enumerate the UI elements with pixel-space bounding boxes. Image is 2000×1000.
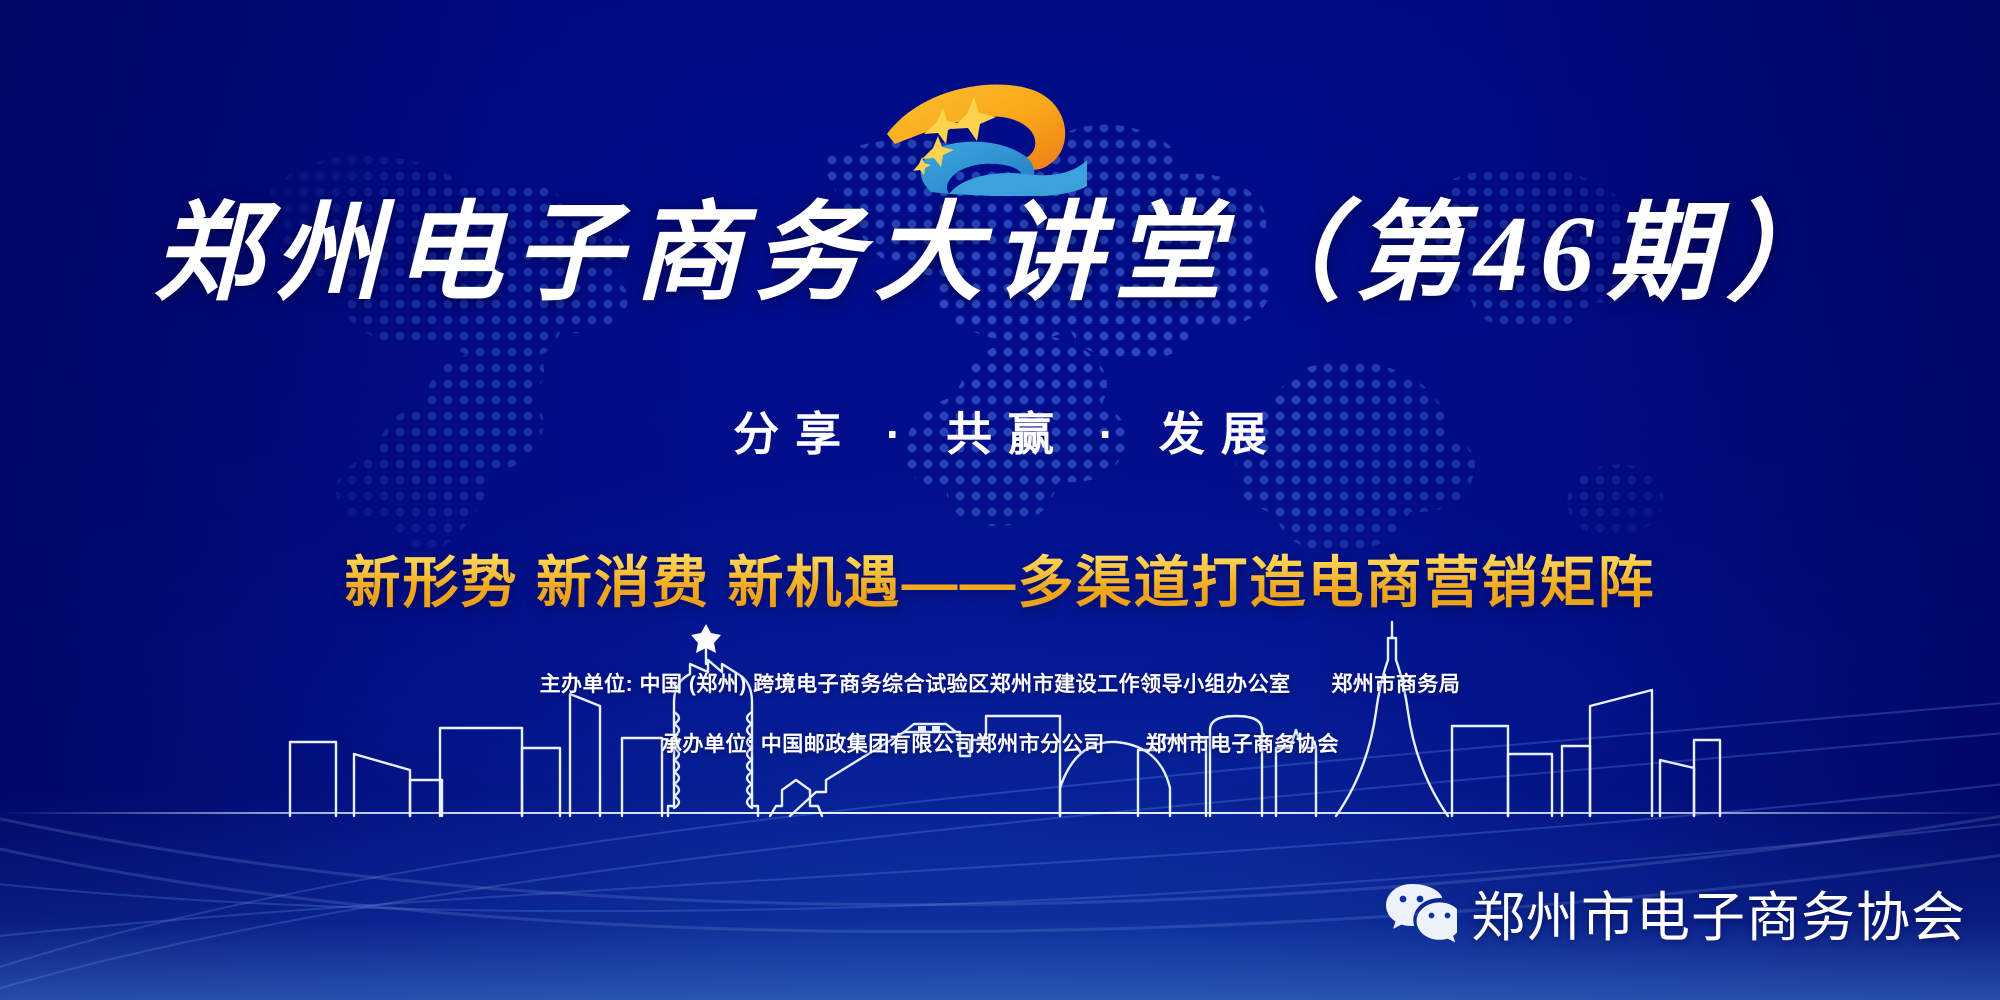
wechat-account-name: 郑州市电子商务协会 [1471,873,1966,952]
wechat-icon [1385,882,1457,944]
poster-theme-line: 新形势 新消费 新机遇——多渠道打造电商营销矩阵 [0,538,2000,619]
shooting-star-swoosh-logo [875,74,1125,196]
co-organizer-text: 承办单位: 中国邮政集团有限公司郑州市分公司 [661,733,1105,756]
organizer-block: 主办单位: 中国 (郑州) 跨境电子商务综合试验区郑州市建设工作领导小组办公室 … [0,672,2000,759]
poster-subtitle: 分享 · 共赢 · 发展 [0,398,2000,464]
page-title: 郑州电子商务大讲堂（第46期） [0,198,2000,311]
host-organizer-extra: 郑州市商务局 [1331,673,1460,696]
co-organizer-line: 承办单位: 中国邮政集团有限公司郑州市分公司 郑州市电子商务协会 [0,732,2000,758]
poster-canvas: 郑州电子商务大讲堂（第46期） 分享 · 共赢 · 发展 新形势 新消费 新机遇… [0,0,2000,1000]
host-organizer-text: 主办单位: 中国 (郑州) 跨境电子商务综合试验区郑州市建设工作领导小组办公室 [540,673,1291,696]
co-organizer-extra: 郑州市电子商务协会 [1146,733,1340,756]
host-organizer-line: 主办单位: 中国 (郑州) 跨境电子商务综合试验区郑州市建设工作领导小组办公室 … [0,672,2000,698]
poster-content: 郑州电子商务大讲堂（第46期） 分享 · 共赢 · 发展 新形势 新消费 新机遇… [0,0,2000,1000]
wechat-account-badge[interactable]: 郑州市电子商务协会 [1385,873,1966,952]
